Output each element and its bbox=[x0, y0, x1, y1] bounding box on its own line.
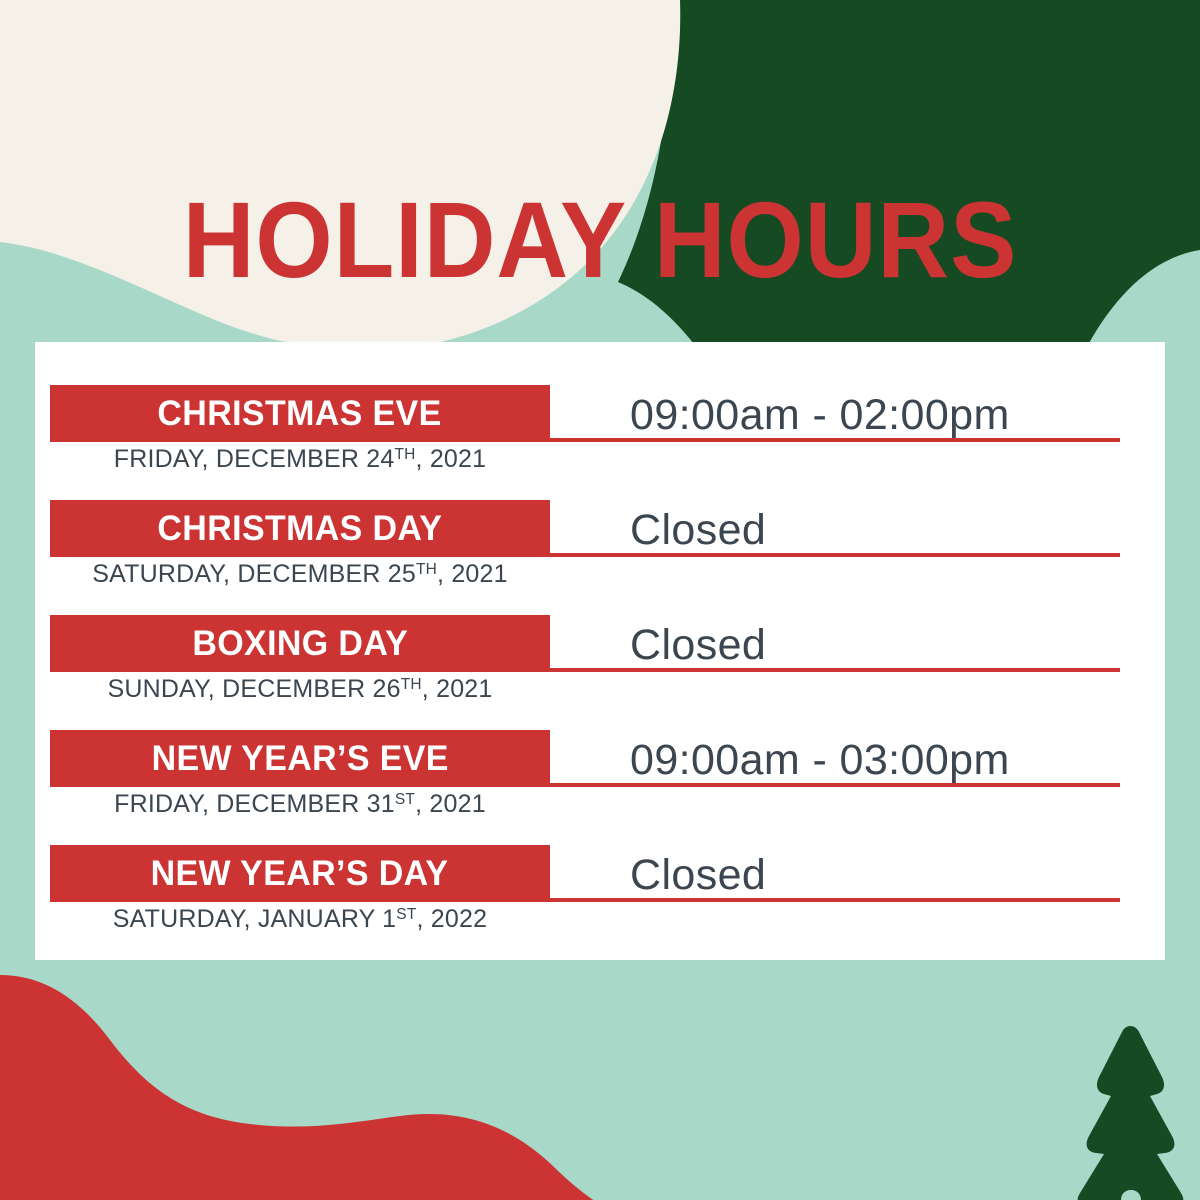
date-ordinal-suffix: ST bbox=[396, 906, 416, 923]
hours-underline bbox=[550, 553, 1120, 557]
holiday-name-label: CHRISTMAS DAY bbox=[158, 509, 443, 549]
holiday-name-banner: CHRISTMAS DAY bbox=[50, 500, 550, 557]
schedule-row: BOXING DAYSUNDAY, DECEMBER 26TH, 2021Clo… bbox=[35, 615, 1165, 730]
date-prefix: SATURDAY, JANUARY 1 bbox=[113, 905, 397, 933]
date-prefix: FRIDAY, DECEMBER 24 bbox=[114, 445, 395, 473]
holiday-date-label: SATURDAY, DECEMBER 25TH, 2021 bbox=[50, 560, 550, 589]
red-wave-shape-lower bbox=[0, 978, 672, 1200]
hours-value: Closed bbox=[630, 622, 766, 668]
schedule-card: CHRISTMAS EVEFRIDAY, DECEMBER 24TH, 2021… bbox=[35, 342, 1165, 960]
page-title: HOLIDAY HOURS bbox=[48, 186, 1152, 294]
hours-cell: 09:00am - 03:00pm bbox=[550, 730, 1120, 787]
christmas-tree-icon bbox=[1078, 1026, 1184, 1200]
hours-underline bbox=[550, 438, 1120, 442]
red-wave-shape bbox=[0, 975, 700, 1200]
holiday-name-banner: NEW YEAR’S DAY bbox=[50, 845, 550, 902]
holiday-name-banner: NEW YEAR’S EVE bbox=[50, 730, 550, 787]
holiday-name-banner: CHRISTMAS EVE bbox=[50, 385, 550, 442]
schedule-row: CHRISTMAS DAYSATURDAY, DECEMBER 25TH, 20… bbox=[35, 500, 1165, 615]
holiday-date-label: FRIDAY, DECEMBER 31ST, 2021 bbox=[50, 790, 550, 819]
hours-cell: Closed bbox=[550, 845, 1120, 902]
hours-underline bbox=[550, 668, 1120, 672]
date-year: , 2021 bbox=[422, 675, 493, 703]
schedule-row: CHRISTMAS EVEFRIDAY, DECEMBER 24TH, 2021… bbox=[35, 385, 1165, 500]
holiday-date-label: FRIDAY, DECEMBER 24TH, 2021 bbox=[50, 445, 550, 474]
schedule-rows: CHRISTMAS EVEFRIDAY, DECEMBER 24TH, 2021… bbox=[35, 342, 1165, 960]
hours-value: 09:00am - 03:00pm bbox=[630, 737, 1010, 783]
date-prefix: SATURDAY, DECEMBER 25 bbox=[92, 560, 416, 588]
date-year: , 2022 bbox=[417, 905, 488, 933]
schedule-row: NEW YEAR’S DAYSATURDAY, JANUARY 1ST, 202… bbox=[35, 845, 1165, 960]
holiday-name-label: CHRISTMAS EVE bbox=[158, 394, 442, 434]
hours-cell: Closed bbox=[550, 500, 1120, 557]
date-year: , 2021 bbox=[416, 445, 487, 473]
holiday-date-label: SUNDAY, DECEMBER 26TH, 2021 bbox=[50, 675, 550, 704]
hours-underline bbox=[550, 783, 1120, 787]
date-ordinal-suffix: TH bbox=[401, 676, 422, 693]
hours-value: Closed bbox=[630, 507, 766, 553]
hours-underline bbox=[550, 898, 1120, 902]
hours-value: 09:00am - 02:00pm bbox=[630, 392, 1010, 438]
holiday-hours-poster: HOLIDAY HOURS CHRISTMAS EVEFRIDAY, DECEM… bbox=[0, 0, 1200, 1200]
holiday-name-label: BOXING DAY bbox=[192, 624, 408, 664]
date-prefix: SUNDAY, DECEMBER 26 bbox=[107, 675, 400, 703]
date-year: , 2021 bbox=[437, 560, 508, 588]
hours-value: Closed bbox=[630, 852, 766, 898]
date-ordinal-suffix: TH bbox=[394, 446, 415, 463]
date-ordinal-suffix: ST bbox=[395, 791, 415, 808]
holiday-date-label: SATURDAY, JANUARY 1ST, 2022 bbox=[50, 905, 550, 934]
hours-cell: 09:00am - 02:00pm bbox=[550, 385, 1120, 442]
holiday-name-label: NEW YEAR’S EVE bbox=[151, 739, 448, 779]
date-ordinal-suffix: TH bbox=[416, 561, 437, 578]
holiday-name-banner: BOXING DAY bbox=[50, 615, 550, 672]
holiday-name-label: NEW YEAR’S DAY bbox=[151, 854, 449, 894]
date-prefix: FRIDAY, DECEMBER 31 bbox=[114, 790, 395, 818]
hours-cell: Closed bbox=[550, 615, 1120, 672]
date-year: , 2021 bbox=[415, 790, 486, 818]
schedule-row: NEW YEAR’S EVEFRIDAY, DECEMBER 31ST, 202… bbox=[35, 730, 1165, 845]
